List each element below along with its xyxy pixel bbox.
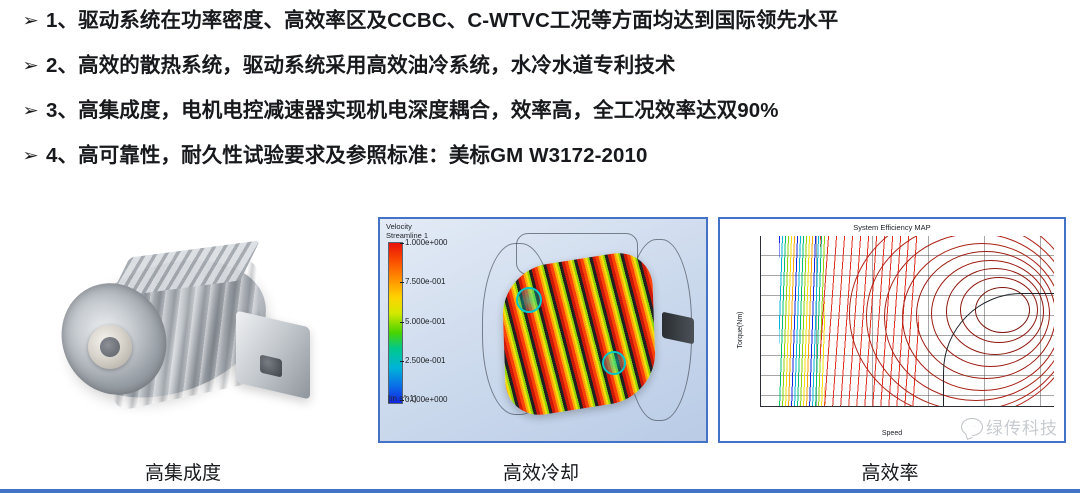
- cfd-colorbar-units: [m s^-1]: [388, 394, 416, 403]
- cfd-colorbar-tick-1: 1.000e+000: [405, 238, 448, 247]
- arrow-bullet-icon: ➢: [22, 51, 47, 81]
- figure-cfd-cooling: Velocity Streamline 1 1.000e+000 7.500e-…: [378, 205, 710, 493]
- cfd-vortex-upper: [516, 287, 542, 313]
- cfd-colorbar-wrap: 1.000e+000 7.500e-001 5.000e-001 2.500e-…: [386, 242, 480, 402]
- arrow-bullet-icon: ➢: [22, 6, 47, 36]
- cfd-motor-wireframe: [476, 233, 700, 429]
- figure-strip: 高集成度 Velocity Streamline 1 1.000e+000 7.…: [0, 205, 1080, 493]
- efficiency-map-panel: System Efficiency MAP Torque(Nm) Speed -…: [718, 217, 1066, 443]
- figure-caption-map: 高效率: [718, 458, 1062, 485]
- bullet-item-3: ➢ 3、高集成度，电机电控减速器实现机电深度耦合，效率高，全工况效率达双90%: [0, 96, 1080, 141]
- figure-motor-assembly: 高集成度: [18, 205, 348, 493]
- efficiency-map-ylabel: Torque(Nm): [737, 312, 744, 349]
- motor-output-hub-shape: [88, 325, 132, 369]
- watermark: · · 绿传科技: [961, 414, 1058, 439]
- cfd-colorbar-tick-3: 5.000e-001: [405, 317, 445, 326]
- bullet-text-4: 4、高可靠性，耐久性试验要求及参照标准：美标GM W3172-2010: [46, 141, 1080, 171]
- arrow-bullet-icon: ➢: [22, 141, 47, 171]
- efficiency-map-plot-area: -100 -200 -300 -400 -500 -600 -700 -800 …: [760, 236, 1054, 407]
- bullet-list: ➢ 1、驱动系统在功率密度、高效率区及CCBC、C-WTVC工况等方面均达到国际…: [0, 0, 1080, 186]
- cfd-colorbar-gradient: [388, 242, 403, 404]
- bullet-text-1: 1、驱动系统在功率密度、高效率区及CCBC、C-WTVC工况等方面均达到国际领先…: [46, 6, 1080, 36]
- watermark-text: 绿传科技: [986, 414, 1058, 439]
- bullet-text-2: 2、高效的散热系统，驱动系统采用高效油冷系统，水冷水道专利技术: [46, 51, 1080, 81]
- figure-efficiency-map: System Efficiency MAP Torque(Nm) Speed -…: [718, 205, 1068, 493]
- chat-bubble-icon: · ·: [961, 418, 983, 436]
- cfd-vortex-lower: [602, 351, 626, 375]
- motor-gearbox-shape: [236, 310, 310, 399]
- cfd-colorbar-tick-2: 7.500e-001: [405, 277, 445, 286]
- cfd-colorbar-legend: Velocity Streamline 1 1.000e+000 7.500e-…: [386, 222, 480, 402]
- arrow-bullet-icon: ➢: [22, 96, 47, 126]
- bullet-item-2: ➢ 2、高效的散热系统，驱动系统采用高效油冷系统，水冷水道专利技术: [0, 51, 1080, 96]
- bullet-item-4: ➢ 4、高可靠性，耐久性试验要求及参照标准：美标GM W3172-2010: [0, 141, 1080, 186]
- cfd-plot-panel: Velocity Streamline 1 1.000e+000 7.500e-…: [378, 217, 708, 443]
- cfd-colorbar-tick-4: 2.500e-001: [405, 356, 445, 365]
- figure-caption-cfd: 高效冷却: [378, 458, 704, 485]
- efficiency-map-title: System Efficiency MAP: [720, 223, 1064, 232]
- cfd-legend-title-line1: Velocity: [386, 222, 480, 231]
- figure-caption-motor: 高集成度: [18, 458, 348, 485]
- bullet-item-1: ➢ 1、驱动系统在功率密度、高效率区及CCBC、C-WTVC工况等方面均达到国际…: [0, 6, 1080, 51]
- footer-divider: [0, 489, 1080, 493]
- motor-render-image: [18, 209, 348, 449]
- cfd-streamline-bundle: [501, 248, 656, 421]
- watermark-face-glyph: · ·: [966, 424, 978, 430]
- bullet-text-3: 3、高集成度，电机电控减速器实现机电深度耦合，效率高，全工况效率达双90%: [46, 96, 1080, 126]
- efficiency-map-low-speed-contours: [779, 236, 826, 406]
